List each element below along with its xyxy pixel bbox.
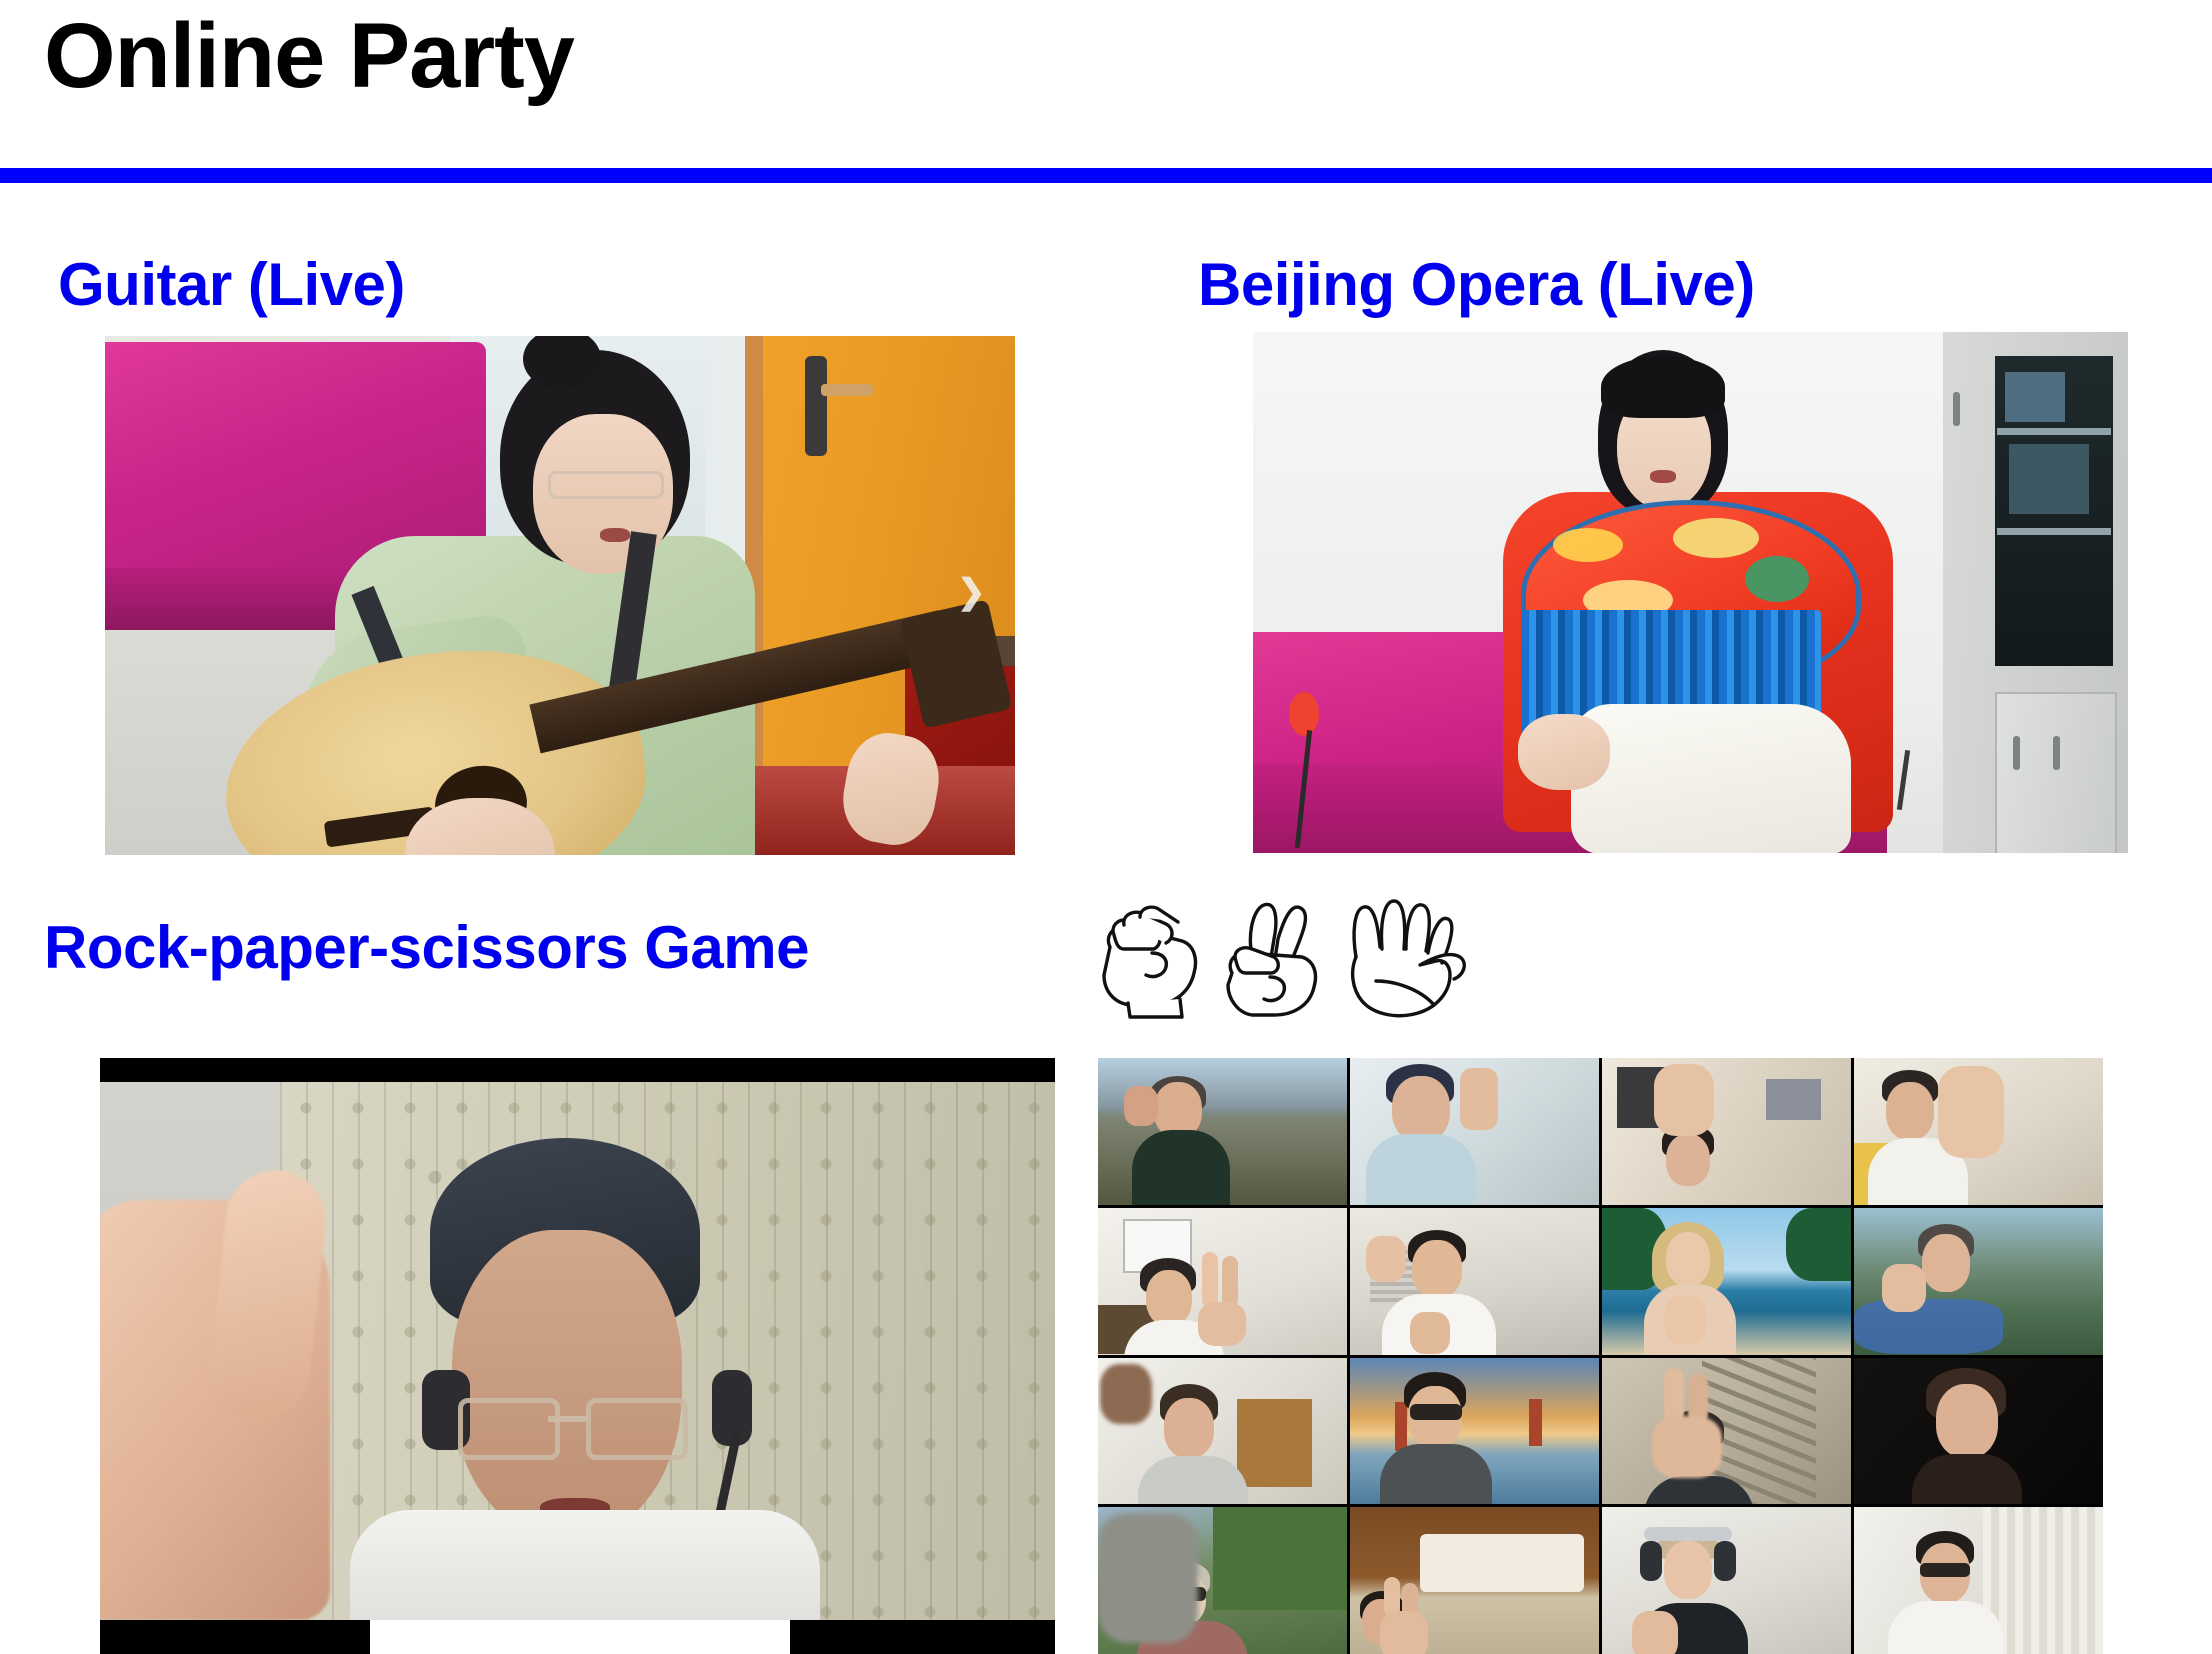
participant-face <box>1666 1134 1710 1186</box>
performer-mouth <box>1650 470 1676 483</box>
bridge-tower <box>1395 1402 1407 1452</box>
participant-tile[interactable] <box>1350 1507 1599 1654</box>
scissors-hand-icon <box>1216 895 1334 1023</box>
paper-gesture-hand <box>1938 1066 2004 1158</box>
rock-gesture-hand <box>1632 1611 1678 1654</box>
participant-face <box>1922 1234 1970 1292</box>
cabinet-shelf <box>1997 428 2111 435</box>
section-heading-guitar: Guitar (Live) <box>58 250 405 319</box>
participant-torso <box>1138 1456 1248 1505</box>
cabinet-lower-door <box>1995 692 2117 853</box>
white-statues <box>1420 1534 1584 1593</box>
participant-face <box>1164 1398 1214 1458</box>
scissors-gesture-hand <box>1198 1302 1246 1346</box>
cabinet-handle <box>2013 736 2020 770</box>
eyeglass-bridge <box>548 1416 588 1422</box>
white-water-sleeve <box>1571 704 1851 853</box>
rock-gesture-hand <box>1882 1264 1926 1312</box>
rock-gesture-hand <box>1124 1086 1158 1126</box>
participant-face <box>1146 1270 1192 1326</box>
participant-face <box>1936 1384 1998 1458</box>
performer-hand <box>1518 714 1610 790</box>
participant-tile[interactable] <box>1350 1058 1599 1205</box>
guitar-live-video[interactable]: ❯ <box>105 336 1015 855</box>
title-divider <box>0 168 2212 183</box>
participant-face <box>452 1230 682 1540</box>
participant-face <box>1666 1232 1710 1286</box>
hand-gesture-icons <box>1090 895 1480 1023</box>
participant-torso <box>1888 1601 2004 1654</box>
rock-gesture-hand <box>1410 1312 1450 1354</box>
guitarist-mouth <box>600 528 630 542</box>
scissors-finger <box>1222 1256 1238 1308</box>
scissors-gesture-hand <box>1380 1611 1428 1654</box>
paper-gesture-hand <box>1460 1068 1498 1130</box>
webcam-bottom-highlight <box>370 1620 790 1654</box>
participant-video-grid[interactable] <box>1098 1058 2103 1654</box>
guitarist-glasses <box>548 471 664 499</box>
cabinet-handle <box>1953 392 1960 426</box>
page-title: Online Party <box>44 8 574 105</box>
headphone-band <box>1644 1527 1732 1541</box>
participant-face <box>1392 1076 1450 1142</box>
participant-tile[interactable] <box>1602 1358 1851 1505</box>
collar-embroidery <box>1553 528 1623 562</box>
beijing-opera-live-video[interactable] <box>1253 332 2128 853</box>
microphone-head <box>1289 692 1319 736</box>
door-handle <box>805 356 827 456</box>
collar-embroidery <box>1673 518 1759 558</box>
rock-hand-icon <box>1090 895 1208 1023</box>
rock-gesture-hand <box>1366 1236 1406 1282</box>
participant-tile[interactable] <box>1602 1058 1851 1205</box>
scissors-finger <box>1202 1252 1218 1308</box>
bridge-tower <box>1529 1399 1541 1446</box>
participant-torso <box>1132 1130 1230 1205</box>
performer-fringe <box>1601 356 1725 418</box>
participant-tile[interactable] <box>1854 1358 2103 1505</box>
paper-gesture-hand <box>1654 1064 1714 1136</box>
participant-tile[interactable] <box>1854 1058 2103 1205</box>
participant-face <box>1886 1082 1934 1140</box>
cabinet-handle <box>2053 736 2060 770</box>
participant-face <box>1412 1240 1462 1298</box>
chevron-right-icon: ❯ <box>957 572 986 612</box>
paper-gesture-hand <box>1098 1513 1198 1643</box>
rock-paper-scissors-webcam[interactable] <box>100 1058 1055 1654</box>
participant-tile[interactable] <box>1098 1208 1347 1355</box>
paper-hand-icon <box>1342 895 1468 1023</box>
section-heading-rock-paper-scissors: Rock-paper-scissors Game <box>44 913 809 982</box>
participant-tile[interactable] <box>1098 1358 1347 1505</box>
participant-tile[interactable] <box>1350 1208 1599 1355</box>
eyeglasses <box>1410 1404 1462 1420</box>
webcam-frame <box>100 1080 1055 1620</box>
headphone-earcup <box>1714 1541 1736 1581</box>
eyeglass-lens-left <box>458 1398 560 1460</box>
headphone-earcup <box>1640 1541 1662 1581</box>
cabinet-books <box>2005 372 2065 422</box>
participant-shirt <box>350 1510 820 1620</box>
participant-tile[interactable] <box>1602 1507 1851 1654</box>
bookshelf <box>1237 1399 1312 1487</box>
participant-tile[interactable] <box>1602 1208 1851 1355</box>
participant-tile[interactable] <box>1098 1058 1347 1205</box>
palm-tree <box>1786 1208 1851 1281</box>
participant-tile[interactable] <box>1854 1208 2103 1355</box>
cabinet-books <box>2009 444 2089 514</box>
participant-tile[interactable] <box>1350 1358 1599 1505</box>
participant-torso <box>1912 1454 2022 1505</box>
collar-embroidery <box>1745 556 1809 602</box>
rock-gesture-hand <box>1100 1364 1152 1424</box>
section-heading-beijing-opera: Beijing Opera (Live) <box>1198 250 1755 319</box>
blue-flowers <box>1854 1299 2003 1355</box>
cabinet-shelf <box>1997 528 2111 535</box>
participant-torso <box>1366 1134 1476 1205</box>
framed-picture <box>1766 1079 1821 1120</box>
participant-tile[interactable] <box>1854 1507 2103 1654</box>
eyeglasses <box>1920 1563 1970 1577</box>
scissors-gesture-hand <box>1652 1416 1722 1478</box>
door-handle-bar <box>821 384 873 396</box>
letterbox-bar-top <box>100 1058 1055 1082</box>
participant-torso <box>1380 1444 1492 1505</box>
participant-face <box>1664 1541 1712 1599</box>
garden-trees <box>1213 1507 1347 1610</box>
participant-tile[interactable] <box>1098 1507 1347 1654</box>
rock-gesture-hand <box>1664 1296 1706 1344</box>
eyeglass-lens-right <box>586 1398 688 1460</box>
